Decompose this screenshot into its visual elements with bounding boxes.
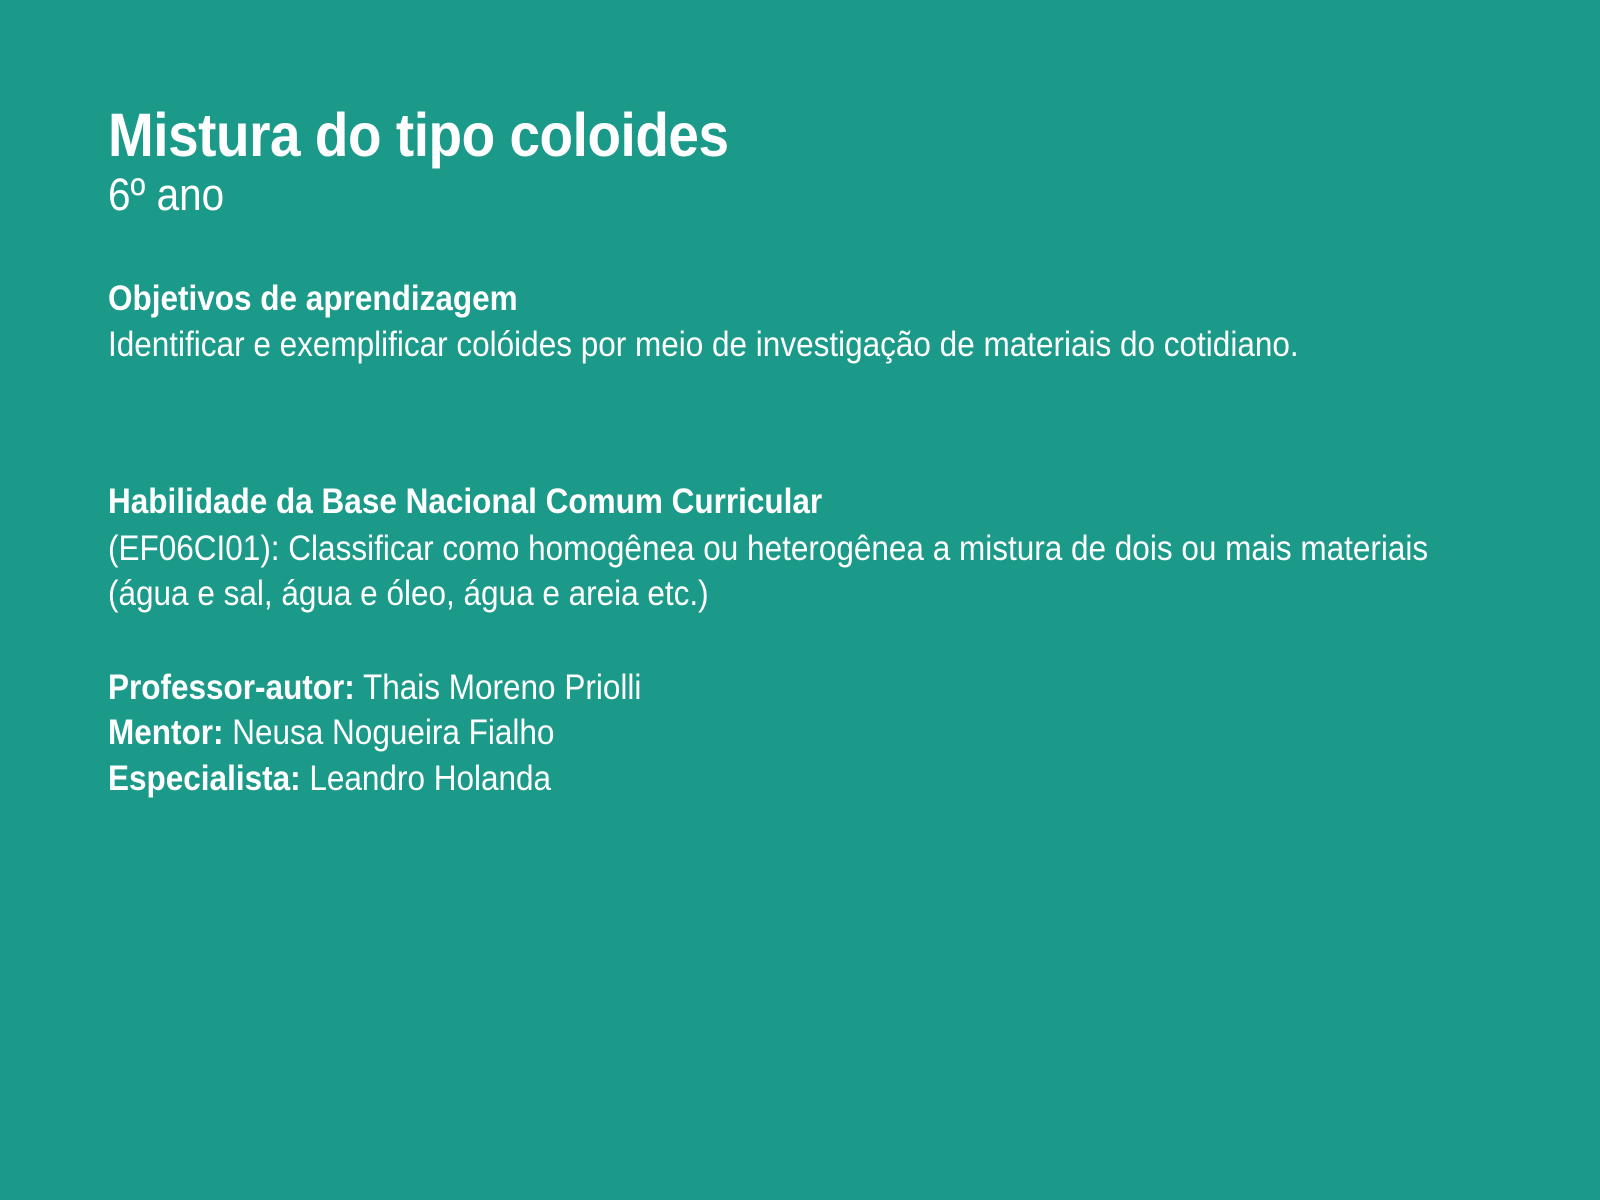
credit-value-mentor: Neusa Nogueira Fialho [232,713,554,752]
section-body-bncc: (EF06CI01): Classificar como homogênea o… [108,526,1447,617]
credit-value-specialist: Leandro Holanda [309,759,551,798]
spacer-after-objectives [108,368,1448,480]
spacer-after-bncc [108,617,1448,665]
credit-label-mentor: Mentor: [108,713,223,752]
credit-line-professor: Professor-autor: Thais Moreno Priolli [108,665,1314,711]
credit-label-specialist: Especialista: [108,759,301,798]
credit-line-mentor: Mentor: Neusa Nogueira Fialho [108,710,1314,756]
slide-root: Mistura do tipo coloides 6º ano Objetivo… [0,0,1600,1200]
section-heading-objectives: Objetivos de aprendizagem [108,277,1314,322]
credit-line-specialist: Especialista: Leandro Holanda [108,756,1314,802]
section-learning-objectives: Objetivos de aprendizagem Identificar e … [108,277,1448,368]
page-title: Mistura do tipo coloides [108,104,1314,166]
section-body-objectives: Identificar e exemplificar colóides por … [108,322,1447,368]
credit-value-professor: Thais Moreno Priolli [363,668,641,707]
section-heading-bncc: Habilidade da Base Nacional Comum Curric… [108,480,1314,525]
section-bncc-skill: Habilidade da Base Nacional Comum Curric… [108,480,1448,617]
credit-label-professor: Professor-autor: [108,668,355,707]
slide-content: Mistura do tipo coloides 6º ano Objetivo… [108,104,1448,801]
credits-block: Professor-autor: Thais Moreno Priolli Me… [108,665,1448,802]
title-block: Mistura do tipo coloides 6º ano [108,104,1448,221]
grade-subtitle: 6º ano [108,170,1314,220]
